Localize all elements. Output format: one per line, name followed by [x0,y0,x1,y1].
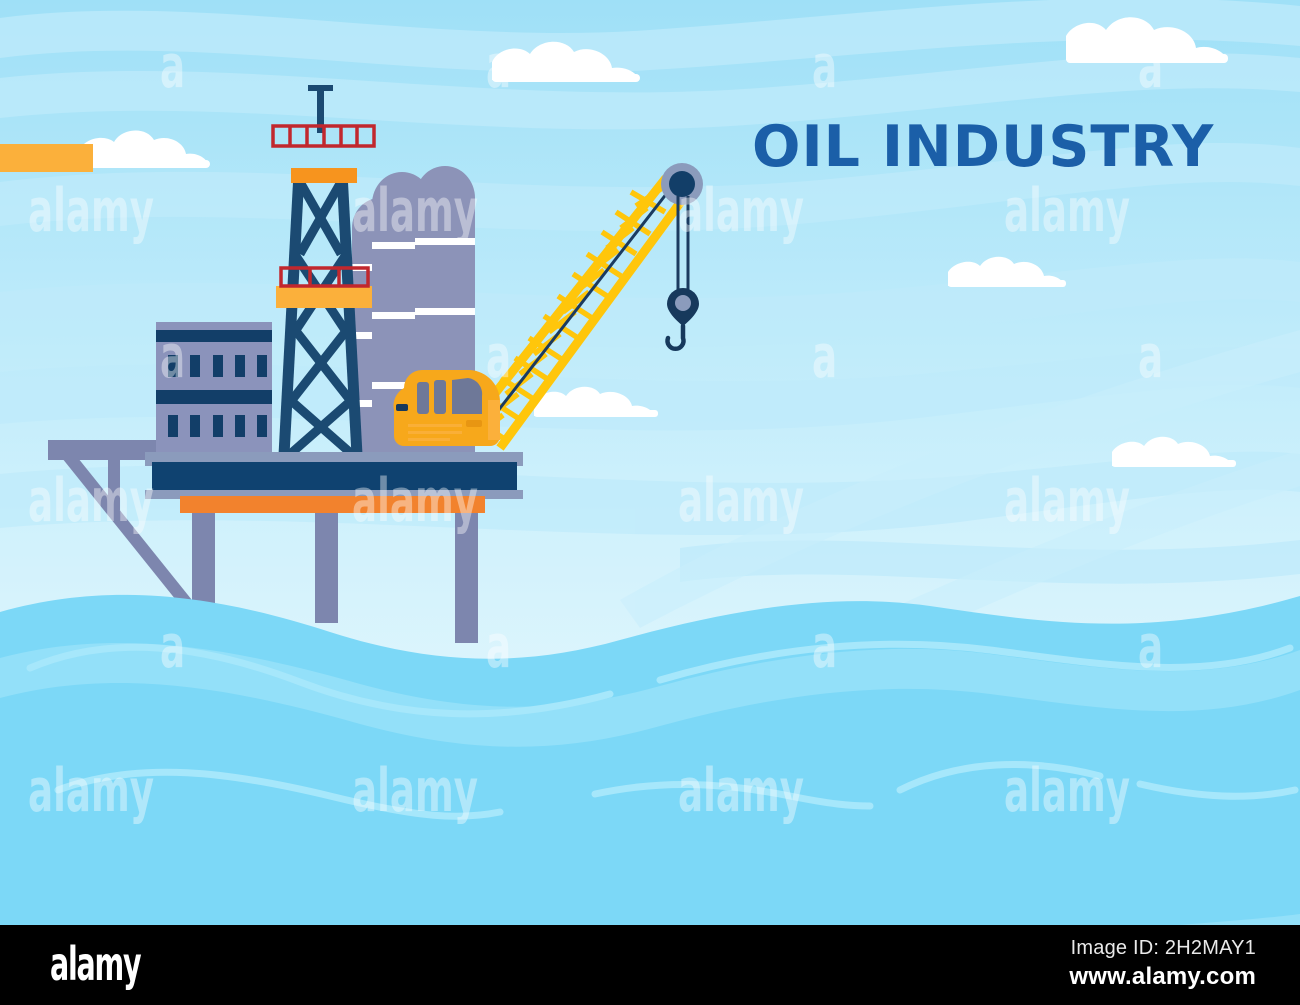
crane-cab [394,370,500,446]
ocean-water [0,595,1300,952]
accommodation-building [152,322,278,464]
alamy-footer-bar: alamy Image ID: 2H2MAY1 www.alamy.com [0,925,1300,1005]
crane-head-pulley [661,163,703,205]
image-id-label: Image ID: 2H2MAY1 [1071,937,1256,960]
alamy-website-label: www.alamy.com [1069,963,1256,991]
page-title: OIL INDUSTRY [752,116,1214,178]
illustration-canvas: a a a a alamy alamy alamy alamy a a a a … [0,0,1300,1005]
alamy-logo: alamy [50,938,140,990]
